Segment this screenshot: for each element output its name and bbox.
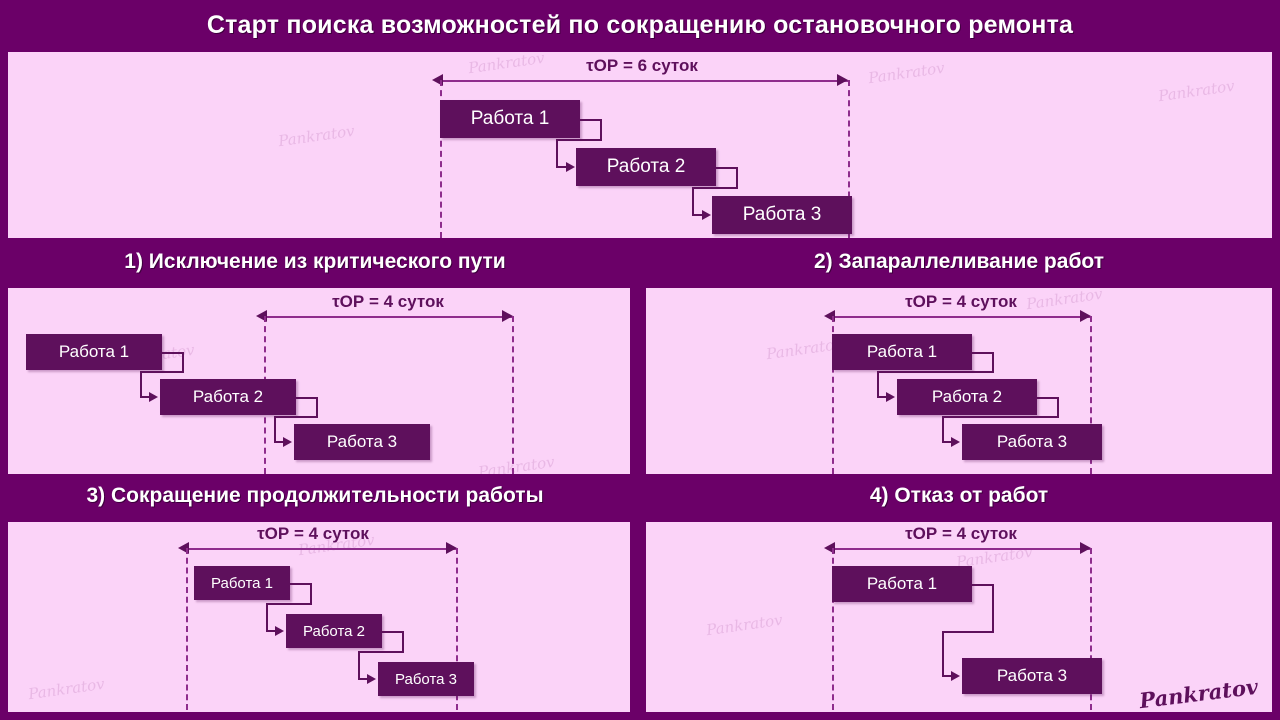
dependency-connector [274,416,318,418]
dependency-connector [140,371,142,397]
duration-label-option4: τОР = 4 суток [816,524,1106,544]
duration-line [264,316,512,318]
task-bar[interactable]: Работа 2 [897,379,1037,415]
watermark: Pankratov [1157,77,1236,106]
guideline-start [186,548,188,710]
duration-label-option3: τОР = 4 суток [168,524,458,544]
task-bar[interactable]: Работа 2 [576,148,716,186]
task-bar-label: Работа 3 [997,432,1067,452]
dependency-connector [992,352,994,373]
section-caption-option1: 1) Исключение из критического пути [0,250,630,274]
duration-label-baseline: τОР = 6 суток [432,56,852,76]
brand-watermark: Pankratov [1138,674,1259,712]
page-title-text: Старт поиска возможностей по сокращению … [207,11,1073,40]
dependency-connector [140,371,184,373]
task-bar[interactable]: Работа 3 [294,424,430,460]
dependency-connector [580,119,602,121]
dependency-connector [942,416,944,442]
dependency-connector [290,583,312,585]
dependency-connector [402,631,404,653]
task-bar-label: Работа 1 [867,342,937,362]
dependency-arrow-icon [283,437,292,447]
task-bar-label: Работа 1 [211,575,273,592]
dependency-arrow-icon [886,392,895,402]
dependency-connector [736,167,738,189]
duration-line [832,548,1090,550]
dependency-connector [266,603,268,631]
section-caption-option4: 4) Отказ от работ [646,484,1272,508]
task-bar[interactable]: Работа 3 [712,196,852,234]
section-caption-option2: 2) Запараллеливание работ [646,250,1272,274]
dependency-connector [1057,397,1059,418]
task-bar-label: Работа 2 [303,623,365,640]
panel-option1: Pankratov Pankratov τОР = 4 суток Работа… [8,288,630,474]
task-bar-label: Работа 1 [59,342,129,362]
task-bar-label: Работа 3 [395,671,457,688]
watermark: Pankratov [277,122,356,151]
dependency-connector [692,187,694,215]
task-bar[interactable]: Работа 1 [832,566,972,602]
dependency-connector [942,416,1059,418]
task-bar[interactable]: Работа 2 [160,379,296,415]
dependency-connector [716,167,738,169]
dependency-connector [877,371,994,373]
dependency-arrow-icon [275,626,284,636]
task-bar-label: Работа 3 [997,666,1067,686]
task-bar[interactable]: Работа 1 [26,334,162,370]
task-bar[interactable]: Работа 1 [440,100,580,138]
watermark: Pankratov [705,611,784,640]
dependency-connector [877,371,879,397]
task-bar[interactable]: Работа 3 [962,424,1102,460]
dependency-connector [1037,397,1059,399]
dependency-connector [358,651,360,679]
panel-baseline: Pankratov Pankratov Pankratov Pankratov … [8,52,1272,238]
dependency-arrow-icon [566,162,575,172]
dependency-connector [692,187,738,189]
task-bar-label: Работа 1 [471,108,550,130]
guideline-end [512,316,514,474]
dependency-arrow-icon [951,671,960,681]
dependency-connector [182,352,184,373]
section-caption-option3: 3) Сокращение продолжительности работы [0,484,630,508]
dependency-connector [266,603,312,605]
task-bar-label: Работа 3 [743,204,822,226]
task-bar-label: Работа 2 [193,387,263,407]
dependency-connector [316,397,318,418]
panel-option4: Pankratov Pankratov τОР = 4 суток Работа… [646,522,1272,712]
dependency-connector [162,352,184,354]
dependency-connector [358,651,404,653]
duration-label-option1: τОР = 4 суток [248,292,528,312]
page-title: Старт поиска возможностей по сокращению … [0,0,1280,50]
task-bar[interactable]: Работа 3 [962,658,1102,694]
dependency-connector [992,584,994,632]
task-bar[interactable]: Работа 1 [194,566,290,600]
duration-line [440,80,848,82]
dependency-connector [942,631,944,676]
dependency-connector [942,631,994,633]
task-bar-label: Работа 2 [607,156,686,178]
dependency-connector [296,397,318,399]
dependency-connector [972,352,994,354]
panel-option3: Pankratov Pankratov τОР = 4 суток Работа… [8,522,630,712]
dependency-connector [600,119,602,141]
duration-line [832,316,1090,318]
watermark: Pankratov [27,675,106,704]
dependency-connector [310,583,312,605]
task-bar-label: Работа 1 [867,574,937,594]
dependency-arrow-icon [951,437,960,447]
dependency-arrow-icon [702,210,711,220]
arrow-right-icon [837,74,848,86]
task-bar[interactable]: Работа 1 [832,334,972,370]
duration-line [186,548,456,550]
watermark: Pankratov [477,453,556,474]
dependency-connector [556,139,558,167]
duration-label-option2: τОР = 4 суток [816,292,1106,312]
task-bar[interactable]: Работа 2 [286,614,382,648]
slide-root: Старт поиска возможностей по сокращению … [0,0,1280,720]
task-bar[interactable]: Работа 3 [378,662,474,696]
dependency-arrow-icon [367,674,376,684]
panel-option2: Pankratov Pankratov τОР = 4 суток Работа… [646,288,1272,474]
dependency-connector [972,584,994,586]
task-bar-label: Работа 2 [932,387,1002,407]
dependency-connector [382,631,404,633]
dependency-arrow-icon [149,392,158,402]
watermark: Pankratov [867,59,946,88]
dependency-connector [556,139,602,141]
dependency-connector [274,416,276,442]
task-bar-label: Работа 3 [327,432,397,452]
